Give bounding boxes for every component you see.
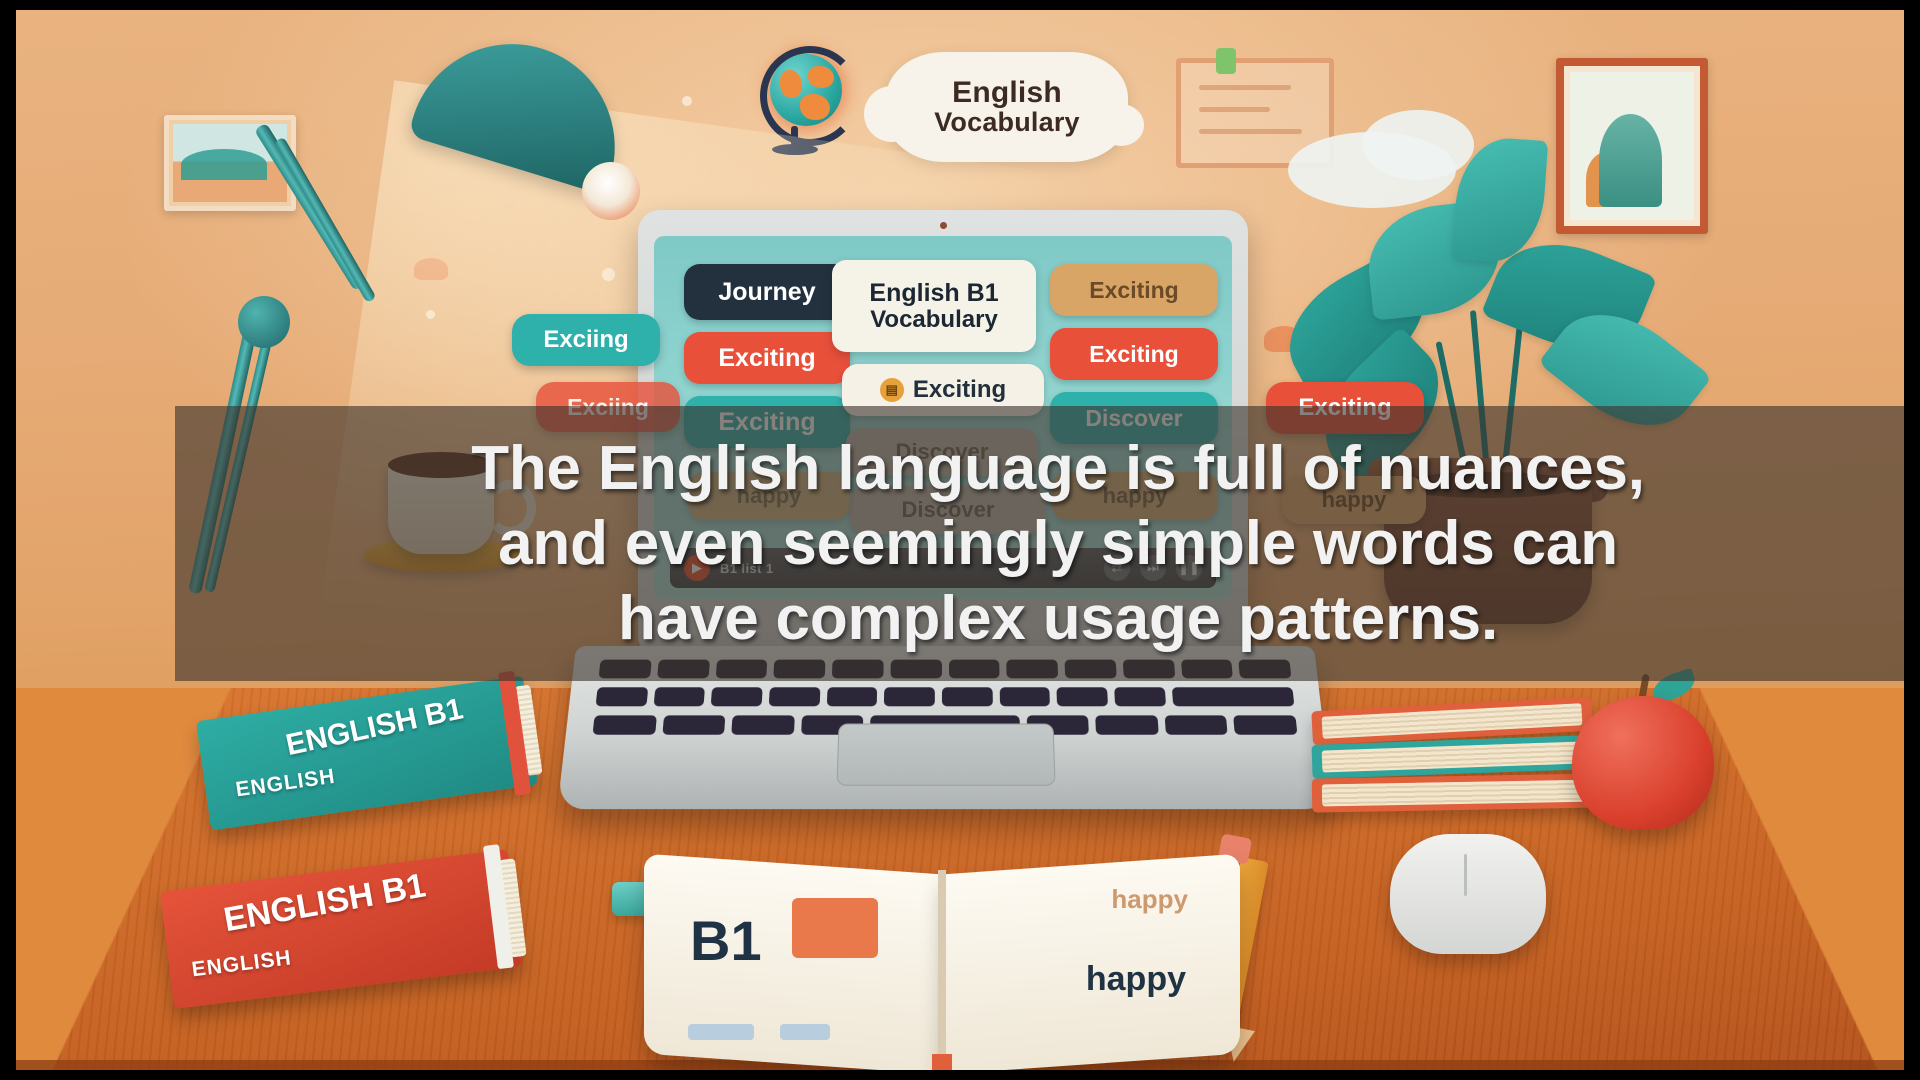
subtitle-overlay: The English language is full of nuances,… (175, 406, 1904, 681)
mouse-scroll-line (1464, 854, 1467, 896)
video-frame: English Vocabulary (0, 0, 1920, 1080)
cloud-shape (1362, 110, 1474, 180)
screen-title-line2: Vocabulary (870, 307, 998, 332)
stacked-book (1312, 773, 1605, 812)
screen-title-card: English B1 Vocabulary (832, 260, 1036, 352)
word-card[interactable]: Journey (684, 264, 850, 320)
word-card[interactable]: Exciting (684, 332, 850, 384)
webcam-icon (940, 222, 947, 229)
squirrel-doodle-left (414, 258, 448, 280)
bubble-line1: English (952, 78, 1062, 109)
sparkle-dot (602, 268, 615, 281)
bubble-line2: Vocabulary (934, 108, 1080, 136)
subtitle-line-2: and even seemingly simple words can (498, 507, 1618, 580)
open-notebook: B1 happy happy (644, 864, 1240, 1064)
notebook-word: happy (1086, 960, 1186, 999)
computer-mouse[interactable] (1390, 834, 1546, 954)
notebook-bookmark (932, 1054, 952, 1070)
notebook-level-label: B1 (690, 908, 762, 973)
illustration-scene: English Vocabulary (16, 10, 1904, 1070)
screen-title-line1: English B1 (869, 280, 998, 306)
lamp-joint (238, 296, 290, 348)
clip-icon (1216, 48, 1236, 74)
word-card-label: Exciting (913, 376, 1006, 404)
floating-word-chip[interactable]: Exciing (512, 314, 660, 366)
sparkle-dot (426, 310, 435, 319)
book-icon: ▤ (880, 378, 904, 402)
subtitle-line-1: The English language is full of nuances, (471, 432, 1645, 505)
speech-bubble: English Vocabulary (886, 52, 1128, 162)
subtitle-line-3: have complex usage patterns. (618, 582, 1498, 655)
trackpad[interactable] (836, 724, 1055, 786)
word-card[interactable]: Exciting (1050, 328, 1218, 380)
notebook-highlight-block (792, 898, 878, 958)
word-card[interactable]: Exciting (1050, 264, 1218, 316)
sparkle-dot (682, 96, 692, 106)
keyboard-row (596, 687, 1295, 706)
wall-picture-right (1556, 58, 1708, 234)
notebook-ghost-word: happy (1111, 884, 1188, 915)
book-spine-text: ENGLISH (190, 946, 293, 982)
apple (1572, 696, 1714, 830)
book-spine-text: ENGLISH (234, 765, 337, 803)
globe-icon (758, 40, 854, 160)
